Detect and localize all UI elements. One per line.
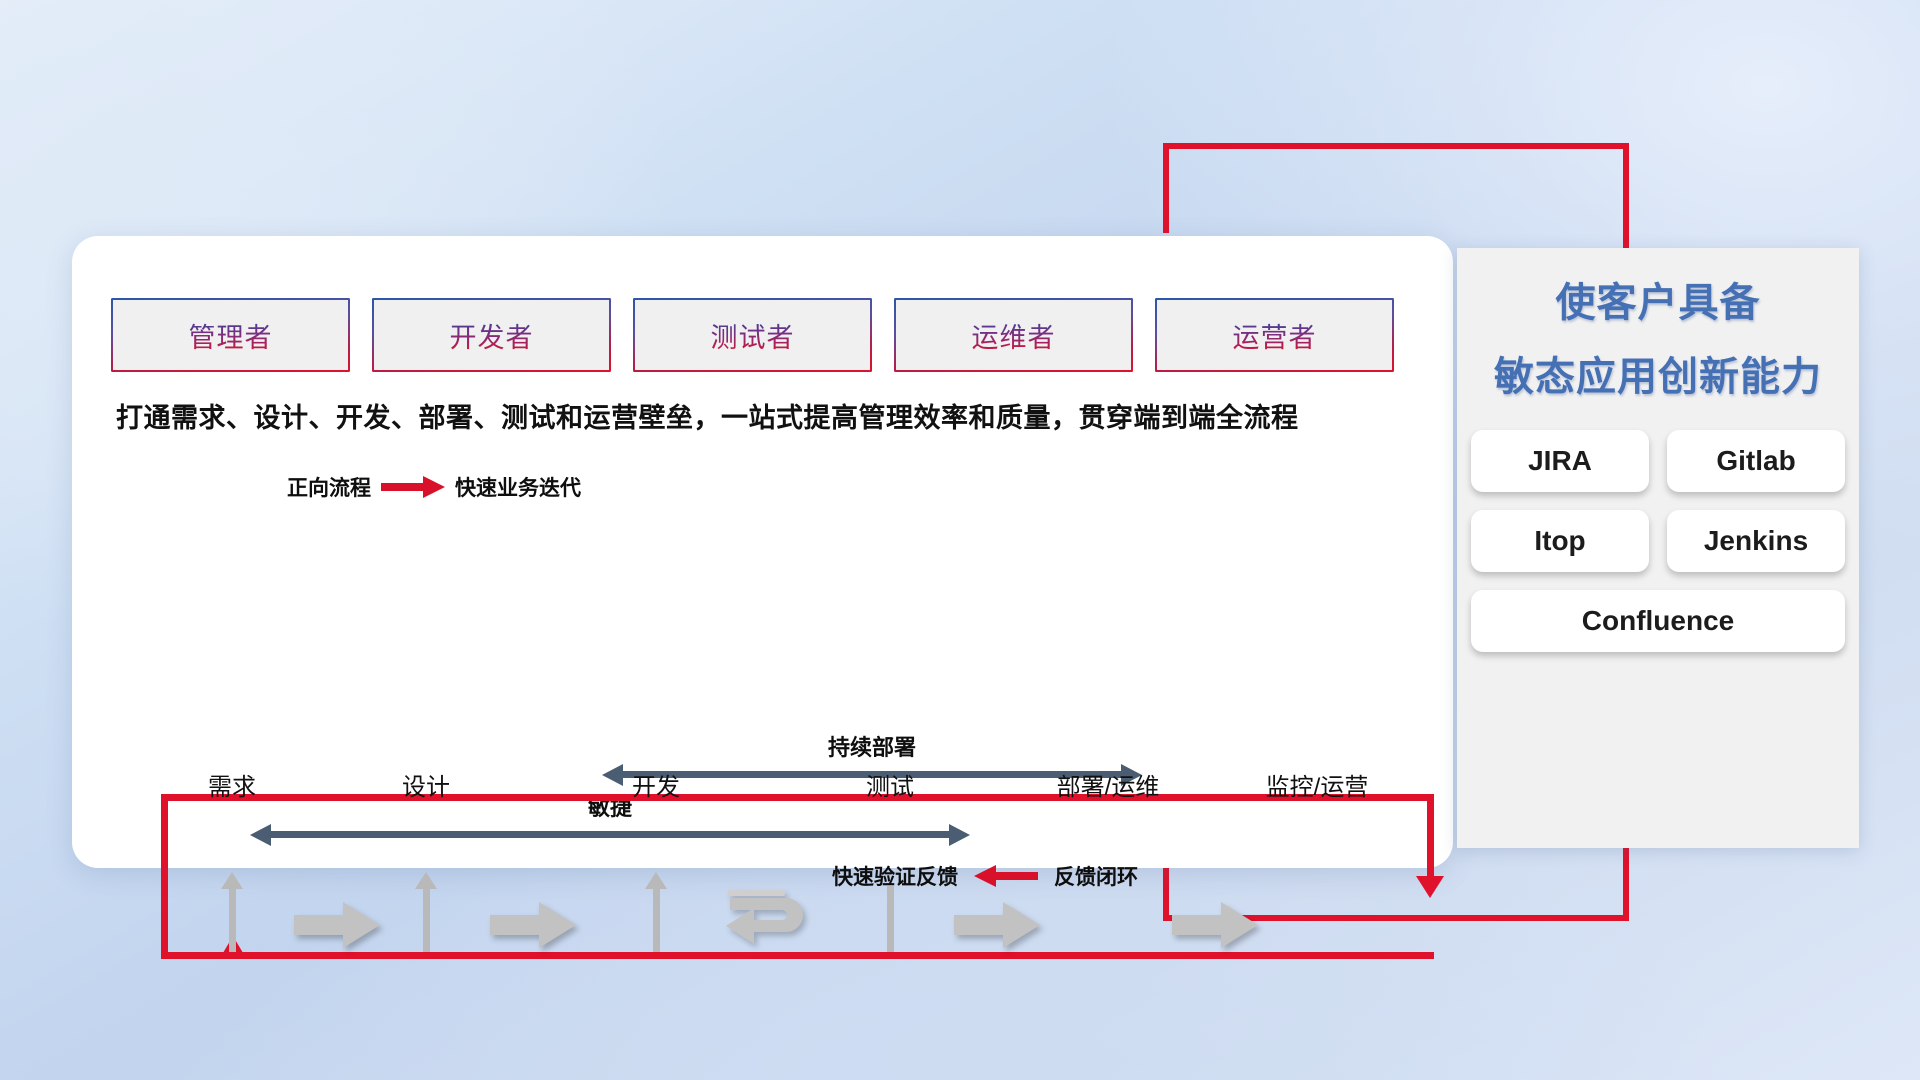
feedback-from-label: 快速验证反馈 — [832, 861, 958, 891]
panel-title-line2: 敏态应用创新能力 — [1457, 348, 1859, 406]
role-chip-operations[interactable]: 运营者 — [1157, 300, 1392, 370]
span-shaft — [270, 831, 950, 838]
pipeline-node-label: 设计 — [402, 767, 450, 802]
forward-flow-legend: 正向流程 快速业务迭代 — [287, 472, 581, 502]
slide-canvas: 管理者 开发者 测试者 运维者 运营者 打通需求、设计、开发、部署、测试和运营壁… — [0, 0, 1920, 1080]
arrow-right-red-icon — [381, 476, 445, 498]
pipeline-node-label: 监控/运营 — [1266, 767, 1369, 802]
arrow-head-down-red-icon — [1416, 876, 1444, 898]
cycle-loop-left-segment — [161, 794, 168, 959]
role-chip-ops[interactable]: 运维者 — [896, 300, 1131, 370]
tool-tag-jenkins[interactable]: Jenkins — [1667, 510, 1845, 572]
feed-stem-design — [423, 886, 430, 952]
tool-tag-gitlab[interactable]: Gitlab — [1667, 430, 1845, 492]
tool-tag-confluence[interactable]: Confluence — [1471, 590, 1845, 652]
cycle-loop-top-segment — [161, 794, 1434, 801]
role-chip-row: 管理者 开发者 测试者 运维者 运营者 — [113, 300, 1392, 370]
feed-stem-head-design — [415, 872, 437, 889]
feed-stem-head-requirement — [221, 872, 243, 889]
pipeline-node-label: 需求 — [208, 767, 256, 802]
arrow-head-left-icon — [250, 824, 271, 846]
role-chip-tester[interactable]: 测试者 — [635, 300, 870, 370]
arrow-left-red-icon — [974, 865, 1038, 887]
role-chip-manager[interactable]: 管理者 — [113, 300, 348, 370]
role-chip-label: 运营者 — [1233, 316, 1317, 355]
pipeline-node-label: 测试 — [866, 767, 914, 802]
span-label-continuous-deployment: 持续部署 — [602, 730, 1142, 762]
chevron-arrow-icon — [954, 902, 1040, 948]
chevron-arrow-icon — [490, 902, 576, 948]
panel-title: 使客户具备 敏态应用创新能力 — [1457, 248, 1859, 406]
role-chip-label: 测试者 — [711, 316, 795, 355]
chevron-arrow-icon — [1172, 902, 1258, 948]
value-proposition-panel: 使客户具备 敏态应用创新能力 JIRA Gitlab Itop Jenkins … — [1457, 248, 1859, 848]
devops-diagram-card: 管理者 开发者 测试者 运维者 运营者 打通需求、设计、开发、部署、测试和运营壁… — [72, 236, 1453, 868]
outer-loop-top-segment — [1163, 143, 1629, 149]
feedback-to-label: 反馈闭环 — [1054, 861, 1138, 891]
feedback-loop-legend: 快速验证反馈 反馈闭环 — [832, 861, 1138, 891]
tool-tag-list: JIRA Gitlab Itop Jenkins Confluence — [1457, 406, 1859, 652]
headline-text: 打通需求、设计、开发、部署、测试和运营壁垒，一站式提高管理效率和质量，贯穿端到端… — [116, 396, 1416, 435]
arrow-head-right-icon — [949, 824, 970, 846]
feed-stem-testing — [887, 886, 894, 952]
role-chip-label: 管理者 — [189, 316, 273, 355]
panel-title-line1: 使客户具备 — [1457, 274, 1859, 332]
forward-flow-to-label: 快速业务迭代 — [455, 472, 581, 502]
feed-stem-development — [653, 886, 660, 952]
feed-stem-requirement — [229, 886, 236, 952]
iteration-loop-icon — [720, 886, 820, 960]
tool-tag-jira[interactable]: JIRA — [1471, 430, 1649, 492]
pipeline-node-label: 部署/运维 — [1057, 767, 1160, 802]
tool-tag-itop[interactable]: Itop — [1471, 510, 1649, 572]
feed-stem-head-development — [645, 872, 667, 889]
role-chip-label: 开发者 — [450, 316, 534, 355]
role-chip-developer[interactable]: 开发者 — [374, 300, 609, 370]
role-chip-label: 运维者 — [972, 316, 1056, 355]
arrow-head-left-icon — [602, 764, 623, 786]
outer-loop-left-segment — [1163, 143, 1169, 233]
pipeline-node-label: 开发 — [632, 767, 680, 802]
cycle-loop-right-segment — [1427, 794, 1434, 879]
chevron-arrow-icon — [294, 902, 380, 948]
forward-flow-from-label: 正向流程 — [287, 472, 371, 502]
span-arrow-agile: 敏捷 — [250, 824, 970, 846]
